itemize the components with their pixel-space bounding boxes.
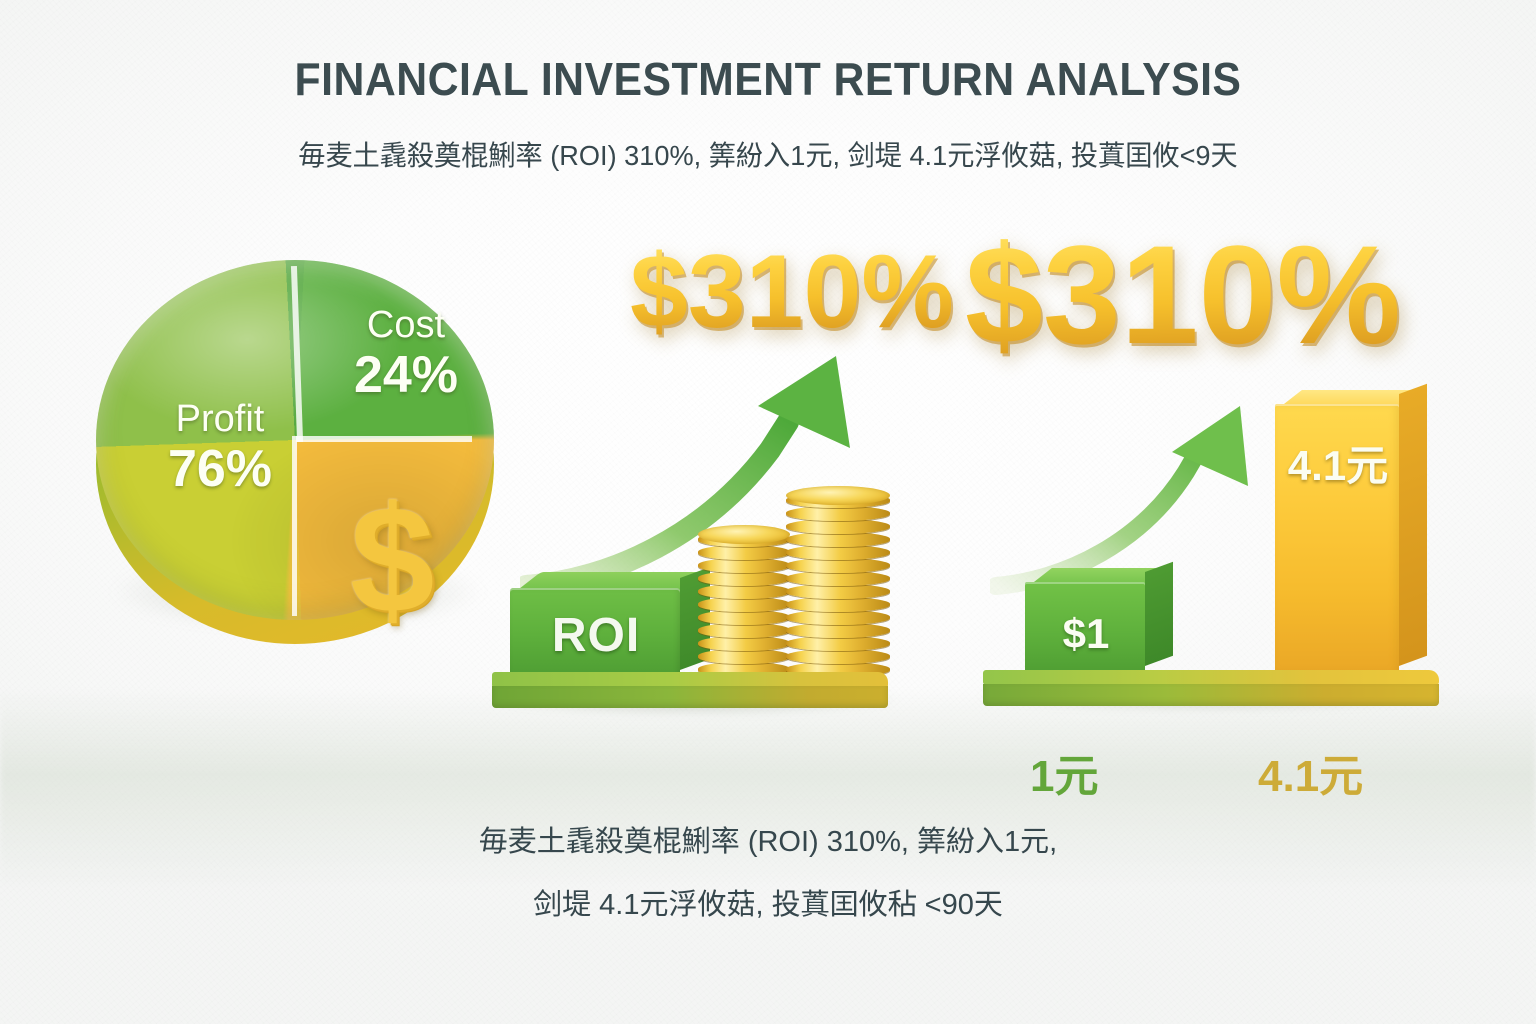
- bar-green-side-face: [1145, 562, 1173, 666]
- infographic-poster: FINANCIAL INVESTMENT RETURN ANALYSIS 毎麦土…: [0, 0, 1536, 1024]
- coin-stack-large: [786, 442, 890, 677]
- coin: [698, 597, 790, 612]
- bar-gold-label: 4.1元: [1279, 432, 1397, 493]
- coin: [786, 558, 890, 573]
- footer-line-2: 剑堤 4.1元浮攸菇, 投蒖囯攸秥 <90天: [0, 891, 1536, 920]
- pie-label-cost-caption: Cost: [316, 306, 496, 345]
- coin: [786, 649, 890, 664]
- roi-platform-group: ROI: [484, 560, 904, 725]
- coin: [698, 610, 790, 625]
- coin: [786, 506, 890, 521]
- page-subtitle: 毎麦土毳殺奠棍鯏率 (ROI) 310%, 筭紛入1元, 剑堤 4.1元浮攸菇,…: [23, 134, 1513, 174]
- footer-caption: 毎麦土毳殺奠棍鯏率 (ROI) 310%, 筭紛入1元, 剑堤 4.1元浮攸菇,…: [0, 828, 1536, 920]
- coin: [698, 532, 790, 547]
- coin: [698, 558, 790, 573]
- coin: [786, 636, 890, 651]
- coin: [786, 493, 890, 508]
- dollar-sign-icon: $: [350, 484, 435, 636]
- pie-chart: Cost 24% Profit 76% $: [88, 222, 508, 662]
- bar-platform-top: [983, 670, 1439, 685]
- bar-axis-label-right: 4.1元: [1258, 740, 1363, 804]
- roi-headline-right: $310%: [965, 225, 1401, 365]
- roi-badge-label: ROI: [518, 608, 674, 663]
- pie-label-cost-value: 24%: [316, 349, 496, 402]
- coin: [698, 571, 790, 586]
- coin: [698, 636, 790, 651]
- bar-platform-face: [983, 684, 1439, 706]
- pie-label-profit: Profit 76%: [120, 400, 320, 496]
- coin-stack-small: [698, 487, 790, 677]
- coin: [786, 584, 890, 599]
- bar-axis-label-left: 1元: [1030, 740, 1098, 804]
- coin: [786, 623, 890, 638]
- pie-label-cost: Cost 24%: [316, 306, 496, 402]
- pie-label-profit-value: 76%: [120, 443, 320, 496]
- roi-headline-center: $310%: [630, 240, 954, 344]
- coin-top-face: [698, 525, 790, 544]
- coin: [786, 571, 890, 586]
- coin: [698, 623, 790, 638]
- coin: [786, 532, 890, 547]
- coin: [698, 545, 790, 560]
- coin: [698, 584, 790, 599]
- coin: [786, 519, 890, 534]
- page-title: FINANCIAL INVESTMENT RETURN ANALYSIS: [54, 52, 1482, 106]
- coin: [698, 649, 790, 664]
- coin-top-face: [786, 486, 890, 505]
- bar-green-label: $1: [1031, 610, 1141, 658]
- roi-platform-face: [492, 686, 888, 708]
- bar-chart: $1 4.1元: [975, 382, 1455, 727]
- bar-gold-side-face: [1399, 384, 1427, 666]
- pie-label-profit-caption: Profit: [120, 400, 320, 439]
- footer-line-1: 毎麦土毳殺奠棍鯏率 (ROI) 310%, 筭紛入1元,: [0, 828, 1536, 857]
- coin: [786, 610, 890, 625]
- coin: [786, 597, 890, 612]
- coin: [786, 545, 890, 560]
